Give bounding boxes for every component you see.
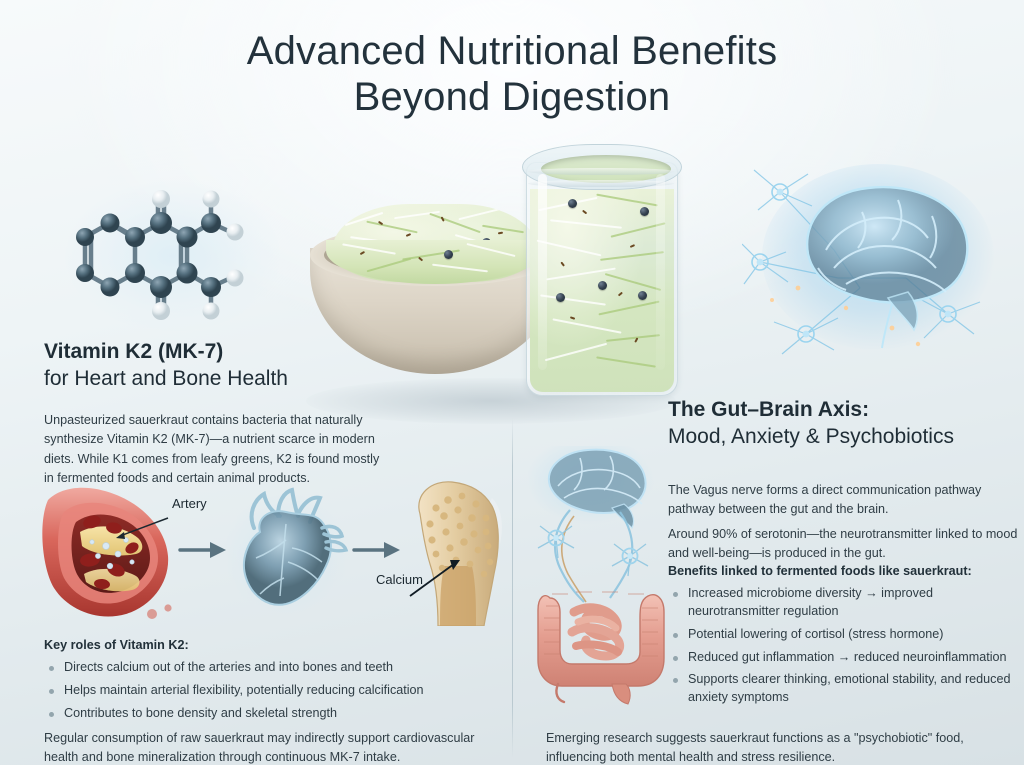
right-section-heading: The Gut–Brain Axis: Mood, Anxiety & Psyc…	[668, 396, 1020, 451]
right-paragraph-1: The Vagus nerve forms a direct communica…	[668, 481, 1020, 520]
left-key-roles-block: Key roles of Vitamin K2: Directs calcium…	[44, 636, 496, 728]
bone-illustration	[410, 482, 502, 626]
vitamin-k-molecule-icon	[55, 175, 290, 335]
left-intro-paragraph: Unpasteurized sauerkraut contains bacter…	[44, 411, 392, 489]
title-line-2: Beyond Digestion	[0, 74, 1024, 120]
arrow-heart-to-bone	[354, 542, 400, 558]
artery-heart-bone-diagram: Artery Calcium	[40, 478, 502, 626]
arrow-artery-to-heart	[180, 542, 226, 558]
gut-brain-axis-illustration	[528, 446, 688, 708]
right-bullets-title: Benefits linked to fermented foods like …	[668, 562, 1022, 581]
left-section-heading: Vitamin K2 (MK-7) for Heart and Bone Hea…	[44, 338, 424, 393]
list-item: Reduced gut inflammation → reduced neuro…	[668, 649, 1022, 667]
list-item: Supports clearer thinking, emotional sta…	[668, 671, 1022, 707]
list-item: Directs calcium out of the arteries and …	[44, 659, 496, 677]
intestines-shape	[538, 592, 664, 704]
right-heading-light: Mood, Anxiety & Psychobiotics	[668, 423, 1020, 450]
infographic-page: Advanced Nutritional Benefits Beyond Dig…	[0, 0, 1024, 765]
list-item: Increased microbiome diversity → improve…	[668, 585, 1022, 621]
left-heading-light: for Heart and Bone Health	[44, 365, 424, 392]
title-line-1: Advanced Nutritional Benefits	[0, 28, 1024, 74]
right-bullet-list: Increased microbiome diversity → improve…	[668, 585, 1022, 707]
calcium-label: Calcium	[376, 572, 423, 587]
right-benefits-block: Benefits linked to fermented foods like …	[668, 562, 1022, 712]
artery-label: Artery	[172, 496, 207, 511]
right-paragraph-2: Around 90% of serotonin—the neurotransmi…	[668, 525, 1020, 564]
heart-illustration	[224, 490, 348, 616]
right-heading-strong: The Gut–Brain Axis:	[668, 396, 1020, 423]
page-title: Advanced Nutritional Benefits Beyond Dig…	[0, 28, 1024, 121]
left-closing-paragraph: Regular consumption of raw sauerkraut ma…	[44, 729, 494, 765]
column-divider	[512, 418, 513, 758]
left-bullets-title: Key roles of Vitamin K2:	[44, 636, 496, 655]
right-closing-paragraph: Emerging research suggests sauerkraut fu…	[546, 729, 1016, 765]
jar-contents	[530, 189, 674, 392]
left-heading-strong: Vitamin K2 (MK-7)	[44, 338, 424, 365]
artery-illustration	[42, 488, 171, 619]
sauerkraut-jar	[518, 140, 683, 398]
list-item: Contributes to bone density and skeletal…	[44, 705, 496, 723]
brain-neurons-icon	[742, 158, 1024, 360]
left-bullet-list: Directs calcium out of the arteries and …	[44, 659, 496, 723]
list-item: Potential lowering of cortisol (stress h…	[668, 626, 1022, 644]
list-item: Helps maintain arterial flexibility, pot…	[44, 682, 496, 700]
